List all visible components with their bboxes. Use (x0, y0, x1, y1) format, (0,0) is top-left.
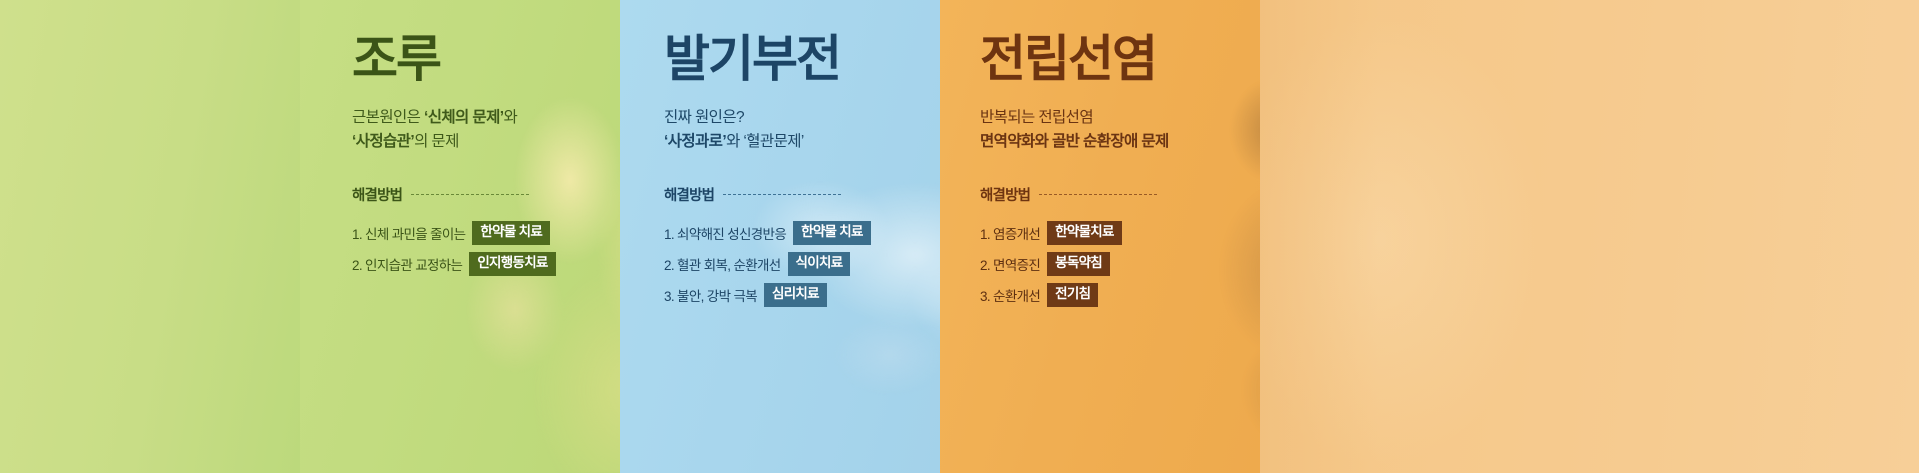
panel-blue-solution-header: 해결방법 (664, 184, 940, 205)
panel-right-background (1260, 0, 1919, 473)
status-badge: 한약물 치료 (793, 221, 871, 245)
status-badge: 봉독약침 (1047, 252, 1110, 276)
list-item[interactable]: 2. 면역증진 봉독약침 (980, 252, 1260, 276)
panel-orange-subtitle-strong-2: 면역약화 (980, 133, 1035, 150)
dashed-divider-icon (411, 194, 529, 195)
panel-left-background (0, 0, 300, 473)
panel-blue-subtitle-suffix-2: 와 ‘혈관문제’ (726, 133, 804, 150)
health-banner: 조루 근본원인은 ‘신체의 문제’와 ‘사정습관’의 문제 해결방법 1. 신체… (0, 0, 1919, 473)
panel-orange-subtitle: 반복되는 전립선염 면역약화와 골반 순환장애 문제 (980, 106, 1260, 154)
panel-blue-solution-label: 해결방법 (664, 184, 714, 205)
panel-blue-subtitle-prefix: 진짜 원인은? (664, 109, 744, 126)
panel-prostatitis[interactable]: 전립선염 반복되는 전립선염 면역약화와 골반 순환장애 문제 해결방법 1. … (940, 0, 1260, 473)
status-badge: 한약물 치료 (472, 221, 550, 245)
list-item-text: 1. 염증개선 (980, 223, 1040, 243)
status-badge: 전기침 (1047, 283, 1098, 307)
list-item-text: 2. 면역증진 (980, 254, 1040, 274)
list-item[interactable]: 1. 신체 과민을 줄이는 한약물 치료 (352, 221, 620, 245)
list-item[interactable]: 3. 불안, 강박 극복 심리치료 (664, 283, 940, 307)
panel-orange-title: 전립선염 (980, 34, 1260, 84)
panel-green-solution-header: 해결방법 (352, 184, 620, 205)
dashed-divider-icon (1039, 194, 1157, 195)
dashed-divider-icon (723, 194, 841, 195)
status-badge: 인지행동치료 (469, 252, 555, 276)
panel-premature-ejaculation[interactable]: 조루 근본원인은 ‘신체의 문제’와 ‘사정습관’의 문제 해결방법 1. 신체… (300, 0, 620, 473)
panel-blue-subtitle: 진짜 원인은? ‘사정과로’와 ‘혈관문제’ (664, 106, 940, 154)
list-item[interactable]: 2. 인지습관 교정하는 인지행동치료 (352, 252, 620, 276)
panel-erectile-dysfunction[interactable]: 발기부전 진짜 원인은? ‘사정과로’와 ‘혈관문제’ 해결방법 1. 쇠약해진… (620, 0, 940, 473)
status-badge: 심리치료 (764, 283, 827, 307)
list-item-text: 2. 인지습관 교정하는 (352, 254, 462, 274)
panel-green-subtitle-prefix: 근본원인은 (352, 109, 424, 126)
panel-blue-title: 발기부전 (664, 34, 940, 84)
panel-orange-subtitle-suffix-2: 와 골반 순환장애 문제 (1035, 133, 1169, 150)
panel-orange-solution-label: 해결방법 (980, 184, 1030, 205)
panel-green-solution-list: 1. 신체 과민을 줄이는 한약물 치료 2. 인지습관 교정하는 인지행동치료 (352, 221, 620, 276)
panel-left-filler (0, 0, 300, 473)
panel-right-filler (1260, 0, 1919, 473)
panel-orange-subtitle-prefix: 반복되는 전립선염 (980, 109, 1093, 126)
status-badge: 식이치료 (788, 252, 851, 276)
list-item-text: 2. 혈관 회복, 순환개선 (664, 254, 781, 274)
panel-green-subtitle-strong-1: ‘신체의 문제’ (424, 109, 503, 126)
panel-green-subtitle-suffix-1: 와 (503, 109, 517, 126)
panel-green-subtitle-strong-2: ‘사정습관’ (352, 133, 414, 150)
list-item[interactable]: 1. 염증개선 한약물치료 (980, 221, 1260, 245)
panel-orange-solution-list: 1. 염증개선 한약물치료 2. 면역증진 봉독약침 3. 순환개선 전기침 (980, 221, 1260, 307)
list-item-text: 3. 불안, 강박 극복 (664, 285, 757, 305)
panel-green-title: 조루 (352, 34, 620, 84)
list-item[interactable]: 1. 쇠약해진 성신경반응 한약물 치료 (664, 221, 940, 245)
list-item[interactable]: 2. 혈관 회복, 순환개선 식이치료 (664, 252, 940, 276)
panel-blue-solution-list: 1. 쇠약해진 성신경반응 한약물 치료 2. 혈관 회복, 순환개선 식이치료… (664, 221, 940, 307)
list-item-text: 3. 순환개선 (980, 285, 1040, 305)
list-item-text: 1. 쇠약해진 성신경반응 (664, 223, 786, 243)
panel-blue-subtitle-strong-2: ‘사정과로’ (664, 133, 726, 150)
status-badge: 한약물치료 (1047, 221, 1122, 245)
list-item[interactable]: 3. 순환개선 전기침 (980, 283, 1260, 307)
panel-orange-solution-header: 해결방법 (980, 184, 1260, 205)
panel-green-solution-label: 해결방법 (352, 184, 402, 205)
panel-green-subtitle: 근본원인은 ‘신체의 문제’와 ‘사정습관’의 문제 (352, 106, 620, 154)
list-item-text: 1. 신체 과민을 줄이는 (352, 223, 465, 243)
panel-green-subtitle-suffix-2: 의 문제 (414, 133, 459, 150)
